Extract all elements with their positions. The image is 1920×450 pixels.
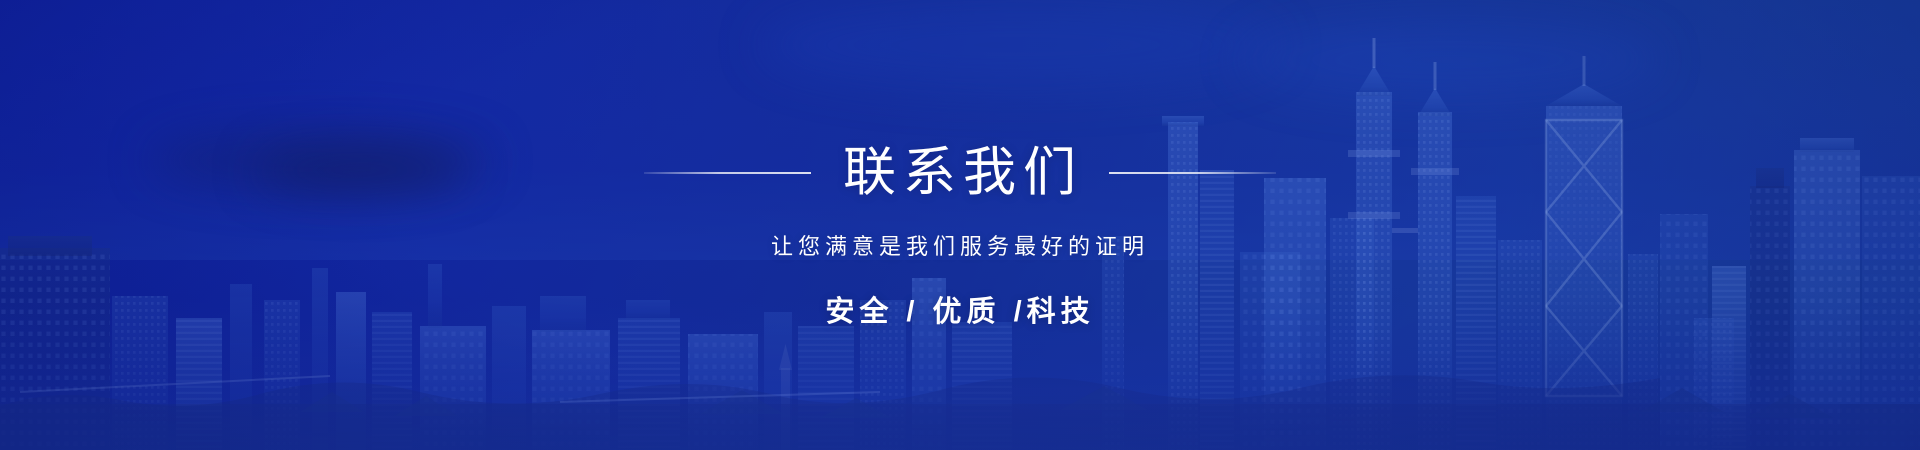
title-row: 联系我们 [644,146,1276,199]
hero-content: 联系我们 让您满意是我们服务最好的证明 安全 / 优质 /科技 [0,0,1920,450]
page-title: 联系我们 [811,146,1109,199]
banner-tagline: 安全 / 优质 /科技 [825,288,1094,330]
title-right-rule-icon [1109,172,1276,174]
banner-subtitle: 让您满意是我们服务最好的证明 [771,229,1149,261]
title-left-rule-icon [644,172,811,174]
contact-hero-banner: 联系我们 让您满意是我们服务最好的证明 安全 / 优质 /科技 [0,0,1920,450]
